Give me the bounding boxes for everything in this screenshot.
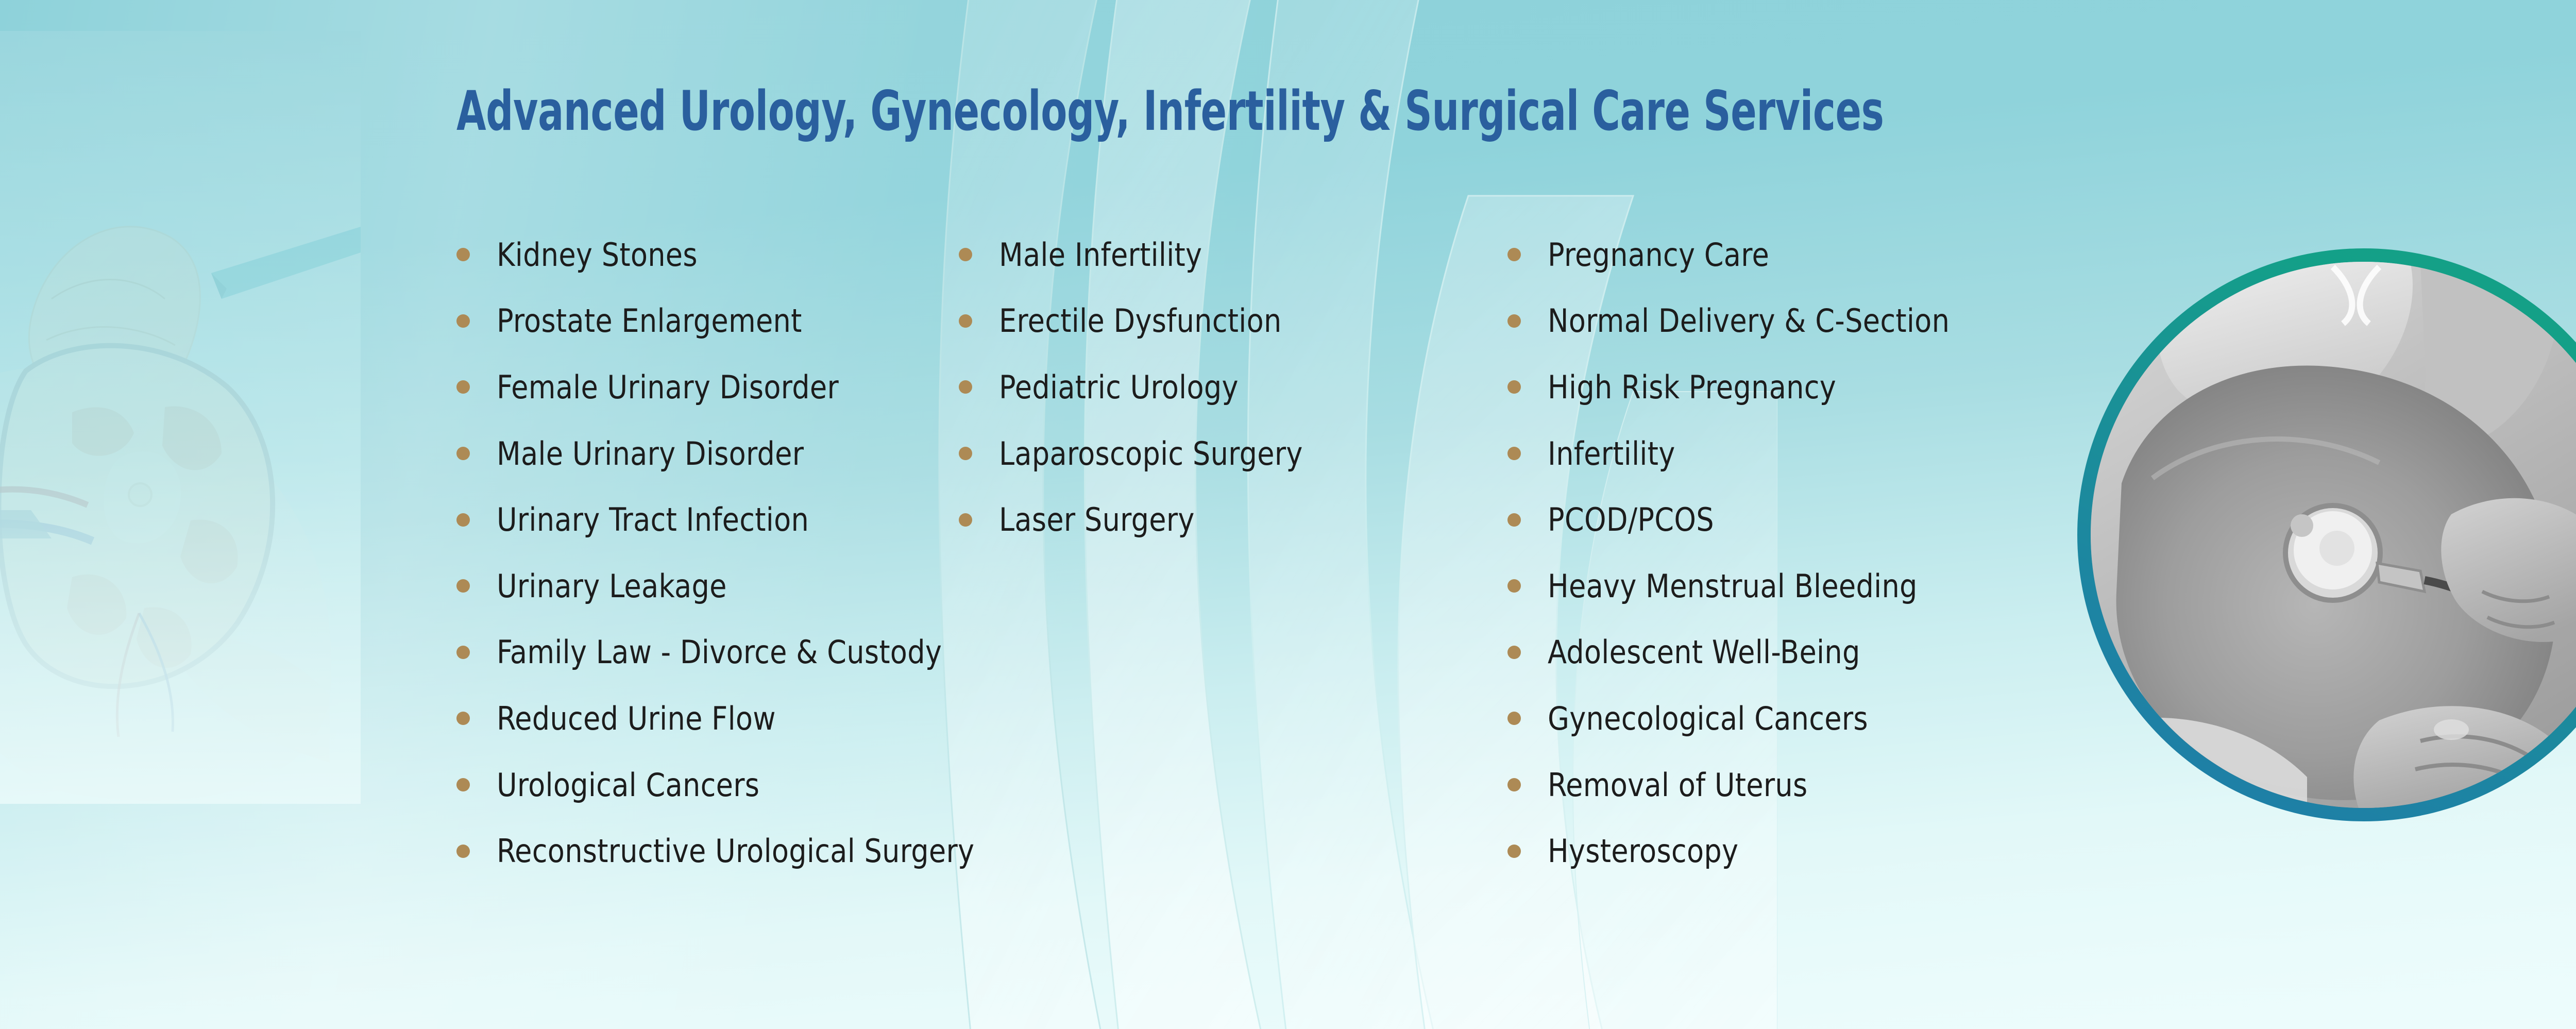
service-list-item[interactable]: Reduced Urine Flow — [453, 685, 958, 752]
service-label: Pediatric Urology — [999, 368, 1239, 406]
services-column-urology: Kidney StonesProstate EnlargementFemale … — [453, 222, 958, 884]
service-list-item[interactable]: Urinary Leakage — [453, 553, 958, 619]
service-label: Gynecological Cancers — [1548, 700, 1868, 737]
service-list-item[interactable]: Erectile Dysfunction — [956, 288, 1476, 355]
service-label: Kidney Stones — [497, 236, 698, 274]
page-title: Advanced Urology, Gynecology, Infertilit… — [456, 82, 1884, 140]
service-label: Laser Surgery — [999, 501, 1195, 538]
bullet-dot-icon — [456, 845, 470, 858]
kidney-anatomy-model-photo — [0, 31, 361, 804]
service-label: Female Urinary Disorder — [497, 368, 839, 406]
bullet-dot-icon — [456, 646, 470, 659]
bullet-dot-icon — [456, 712, 470, 725]
service-list-item[interactable]: Prostate Enlargement — [453, 288, 958, 355]
service-label: PCOD/PCOS — [1548, 501, 1714, 538]
bullet-dot-icon — [959, 314, 972, 328]
service-label: Prostate Enlargement — [497, 302, 802, 340]
service-list-item[interactable]: Urological Cancers — [453, 752, 958, 818]
service-label: Male Infertility — [999, 236, 1202, 274]
service-label: Heavy Menstrual Bleeding — [1548, 567, 1918, 605]
bullet-dot-icon — [456, 579, 470, 593]
service-label: Reconstructive Urological Surgery — [497, 832, 974, 870]
bullet-dot-icon — [1507, 579, 1521, 593]
service-list-item[interactable]: Female Urinary Disorder — [453, 354, 958, 420]
services-column-andrology-surgery: Male InfertilityErectile DysfunctionPedi… — [956, 222, 1476, 553]
service-label: High Risk Pregnancy — [1548, 368, 1836, 406]
service-list-item[interactable]: Laser Surgery — [956, 486, 1476, 553]
service-list-item[interactable]: Male Urinary Disorder — [453, 420, 958, 487]
service-list-item[interactable]: Pregnancy Care — [1504, 222, 2061, 288]
service-label: Hysteroscopy — [1548, 832, 1738, 870]
services-column-gynecology: Pregnancy CareNormal Delivery & C-Sectio… — [1504, 222, 2061, 884]
pregnancy-photo-ring — [2077, 248, 2576, 821]
services-banner: Advanced Urology, Gynecology, Infertilit… — [0, 0, 2576, 1029]
bullet-dot-icon — [959, 513, 972, 527]
bullet-dot-icon — [1507, 646, 1521, 659]
bullet-dot-icon — [456, 513, 470, 527]
service-label: Adolescent Well-Being — [1548, 633, 1860, 671]
service-list-item[interactable]: Removal of Uterus — [1504, 752, 2061, 818]
bullet-dot-icon — [456, 380, 470, 394]
service-list-item[interactable]: Normal Delivery & C-Section — [1504, 288, 2061, 355]
bullet-dot-icon — [456, 447, 470, 460]
service-list-item[interactable]: Male Infertility — [956, 222, 1476, 288]
service-list-item[interactable]: Infertility — [1504, 420, 2061, 487]
bullet-dot-icon — [1507, 447, 1521, 460]
service-list-item[interactable]: Gynecological Cancers — [1504, 685, 2061, 752]
service-list-item[interactable]: Laparoscopic Surgery — [956, 420, 1476, 487]
service-label: Laparoscopic Surgery — [999, 435, 1303, 473]
service-label: Removal of Uterus — [1548, 766, 1807, 804]
bullet-dot-icon — [1507, 778, 1521, 791]
bullet-dot-icon — [1507, 248, 1521, 261]
service-label: Urinary Tract Infection — [497, 501, 809, 538]
service-label: Family Law - Divorce & Custody — [497, 633, 942, 671]
bullet-dot-icon — [1507, 314, 1521, 328]
service-label: Pregnancy Care — [1548, 236, 1769, 274]
service-label: Infertility — [1548, 435, 1675, 473]
service-list-item[interactable]: Adolescent Well-Being — [1504, 619, 2061, 686]
bullet-dot-icon — [959, 380, 972, 394]
bullet-dot-icon — [456, 314, 470, 328]
left-photo-overlay-fade — [0, 31, 361, 804]
bullet-dot-icon — [1507, 513, 1521, 527]
service-label: Urological Cancers — [497, 766, 759, 804]
service-list-item[interactable]: Reconstructive Urological Surgery — [453, 818, 958, 884]
bullet-dot-icon — [1507, 712, 1521, 725]
bullet-dot-icon — [959, 248, 972, 261]
bullet-dot-icon — [1507, 845, 1521, 858]
service-list-item[interactable]: Hysteroscopy — [1504, 818, 2061, 884]
service-list-item[interactable]: Pediatric Urology — [956, 354, 1476, 420]
service-list-item[interactable]: Family Law - Divorce & Custody — [453, 619, 958, 686]
pregnancy-stethoscope-photo — [2091, 262, 2576, 808]
service-label: Urinary Leakage — [497, 567, 727, 605]
service-list-item[interactable]: PCOD/PCOS — [1504, 486, 2061, 553]
service-list-item[interactable]: Heavy Menstrual Bleeding — [1504, 553, 2061, 619]
service-label: Reduced Urine Flow — [497, 700, 776, 737]
bullet-dot-icon — [1507, 380, 1521, 394]
service-label: Normal Delivery & C-Section — [1548, 302, 1950, 340]
service-list-item[interactable]: Kidney Stones — [453, 222, 958, 288]
bullet-dot-icon — [959, 447, 972, 460]
service-label: Male Urinary Disorder — [497, 435, 804, 473]
bullet-dot-icon — [456, 778, 470, 791]
service-list-item[interactable]: Urinary Tract Infection — [453, 486, 958, 553]
service-label: Erectile Dysfunction — [999, 302, 1282, 340]
service-list-item[interactable]: High Risk Pregnancy — [1504, 354, 2061, 420]
bullet-dot-icon — [456, 248, 470, 261]
